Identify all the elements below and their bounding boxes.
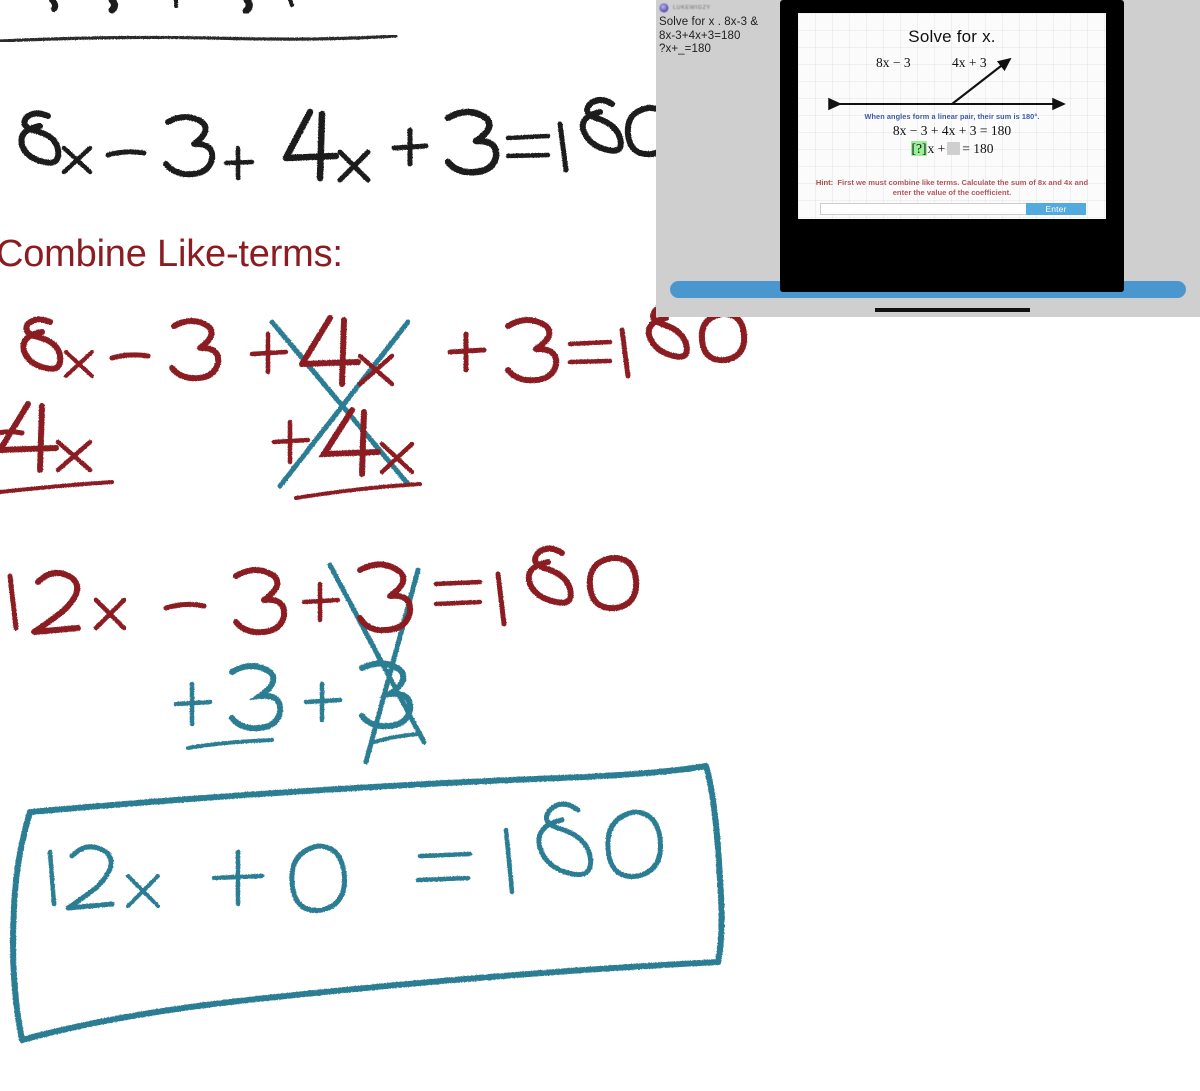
annotation-teal-plus-3-left: [176, 666, 280, 748]
bottom-rule: [875, 308, 1030, 312]
post-user-row: LUKEWIGZY: [659, 1, 787, 14]
math-slide: Solve for x. 8x − 3 4: [798, 13, 1106, 219]
blank-answer-box: [947, 142, 960, 155]
annotation-red-minus-4x: [0, 404, 112, 492]
slide-equation-line-1: 8x − 3 + 4x + 3 = 180: [798, 123, 1106, 139]
enter-button[interactable]: Enter: [1026, 203, 1086, 215]
annotation-red-plus-4x: [274, 410, 420, 498]
answer-box-teal: [13, 766, 722, 1040]
equation-red-row: [23, 306, 744, 384]
boxed-answer-teal: [50, 804, 661, 910]
slide-equation-line-2: [?]x += 180: [798, 141, 1106, 157]
post-meta: LUKEWIGZY Solve for x . 8x-3 & 8x-3+4x+3…: [659, 1, 787, 57]
linear-pair-note: When angles form a linear pair, their su…: [798, 112, 1106, 121]
video-player-frame[interactable]: Solve for x. 8x − 3 4: [780, 0, 1124, 292]
slide-title: Solve for x.: [798, 27, 1106, 47]
screen: Combine Like-terms: LUKEWIGZY Solve for …: [0, 0, 1200, 1091]
unknown-coefficient-placeholder: [?]: [911, 141, 928, 156]
slide-equation-line-2-tail: = 180: [962, 141, 993, 156]
hint-text: Hint: First we must combine like terms. …: [798, 178, 1106, 197]
cutoff-handwriting-top: [52, 0, 292, 11]
slide-equation-line-2-mid: x +: [927, 141, 945, 156]
angle-label-right: 4x + 3: [952, 55, 987, 71]
answer-input[interactable]: [820, 203, 1026, 215]
user-avatar-icon: [659, 3, 669, 13]
equation-red-row-2: [10, 549, 636, 633]
angle-label-left: 8x − 3: [876, 55, 911, 71]
hint-body: First we must combine like terms. Calcul…: [837, 178, 1088, 197]
hint-label: Hint:: [816, 178, 833, 187]
answer-row: Enter: [820, 203, 1086, 215]
section-heading-combine-like-terms: Combine Like-terms:: [0, 233, 343, 276]
crossout-teal-4x: [272, 322, 408, 486]
underline-rule-black: [0, 36, 396, 41]
equation-black: [21, 100, 670, 180]
post-username: LUKEWIGZY: [673, 5, 711, 11]
screenshare-overlay: LUKEWIGZY Solve for x . 8x-3 & 8x-3+4x+3…: [656, 0, 1200, 317]
post-body-text: Solve for x . 8x-3 & 8x-3+4x+3=180 ?x+_=…: [659, 16, 787, 57]
